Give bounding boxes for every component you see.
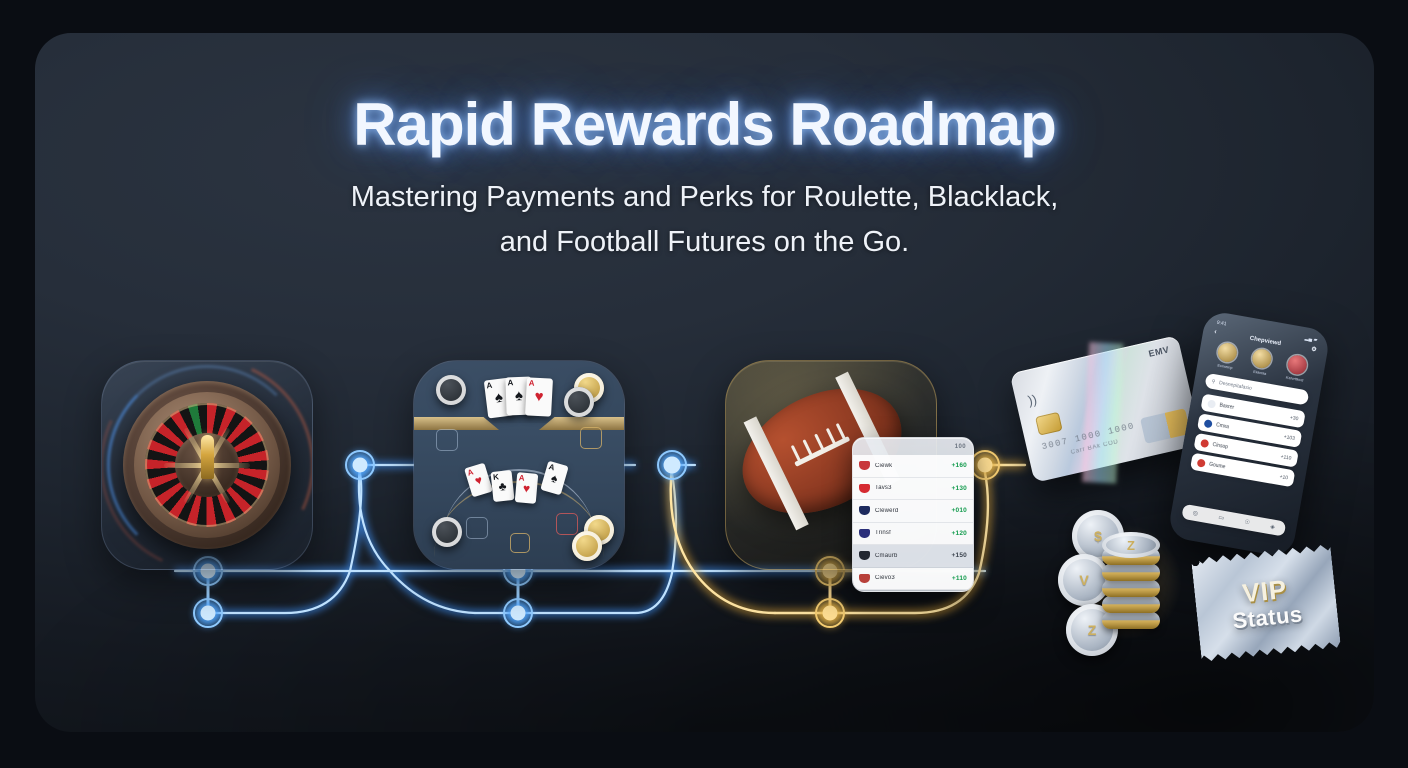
list-item-label: Baxrer — [1219, 402, 1287, 420]
odds-panel-header: 100 — [853, 438, 973, 455]
odds-row[interactable]: Clewerd +010 — [853, 500, 973, 523]
card-blackjack[interactable]: A ♠ A ♠ A ♥ A ♥ — [413, 360, 625, 570]
odds-value: +130 — [952, 485, 967, 492]
team-logo-icon — [859, 506, 870, 515]
holographic-stripe — [1082, 342, 1123, 484]
card-brand-label: EMV — [1148, 344, 1171, 358]
odds-team-label: Trinsf — [875, 530, 947, 536]
casino-chips-group: $ V Z Z — [1058, 508, 1188, 658]
odds-row[interactable]: Cievo3 +110 — [853, 568, 973, 591]
poker-chip — [432, 517, 462, 547]
content-panel: Rapid Rewards Roadmap Mastering Payments… — [35, 33, 1374, 732]
bet-slot[interactable] — [580, 427, 602, 449]
contactless-icon: )) — [1026, 392, 1038, 409]
playing-card: A ♥ — [515, 472, 539, 504]
phone-mockup[interactable]: 9:41 ▂▄ ▰ ‹ Chepviewd ⚙ Evrwsnp — [1167, 310, 1331, 558]
list-item-value: +103 — [1283, 434, 1295, 442]
odds-row[interactable]: Cmaurb +150 — [853, 545, 973, 568]
odds-value: +110 — [952, 575, 967, 582]
odds-team-label: Cievo3 — [875, 575, 947, 581]
header-block: Rapid Rewards Roadmap Mastering Payments… — [35, 33, 1374, 265]
odds-row[interactable]: Trinsf +120 — [853, 523, 973, 546]
tab-bets-icon[interactable]: ▭ — [1218, 514, 1225, 522]
odds-value: +010 — [952, 507, 967, 514]
avatar-label: Keivrttkvd — [1285, 374, 1305, 382]
card-roulette[interactable] — [101, 360, 313, 570]
odds-team-label: Tavs3 — [875, 485, 947, 491]
subtitle-line-2: and Football Futures on the Go. — [35, 220, 1374, 265]
bet-slot[interactable] — [436, 429, 458, 451]
odds-row[interactable]: Tavs3 +130 — [853, 478, 973, 501]
team-logo-icon — [859, 574, 870, 583]
credit-card[interactable]: EMV )) 3007 1000 1000 1000 Carr BAk COD — [1010, 335, 1203, 483]
avatar[interactable]: Evrwsnp — [1215, 342, 1238, 371]
bet-slot[interactable] — [556, 513, 578, 535]
chip-denomination: Z — [1127, 538, 1135, 553]
page-subtitle: Mastering Payments and Perks for Roulett… — [35, 175, 1374, 265]
chip-stack-top: Z — [1102, 532, 1160, 558]
poker-chip — [572, 531, 602, 561]
team-logo-icon — [1207, 399, 1216, 408]
avatar[interactable]: Keivrttkvd — [1285, 354, 1308, 383]
odds-value: +150 — [952, 552, 967, 559]
tab-home-icon[interactable]: ◎ — [1192, 509, 1198, 517]
bet-slot[interactable] — [466, 517, 488, 539]
chip-denomination: V — [1079, 572, 1088, 588]
team-logo-icon — [1204, 419, 1213, 428]
odds-value: +120 — [952, 530, 967, 537]
team-logo-icon — [859, 551, 870, 560]
bottom-tab-bar[interactable]: ◎ ▭ ☉ ◈ — [1181, 504, 1286, 537]
odds-panel[interactable]: 100 Ciewk +160 Tavs3 +130 Clewerd +010 T… — [852, 437, 974, 592]
odds-team-label: Clewerd — [875, 508, 947, 514]
odds-team-label: Cmaurb — [875, 553, 947, 559]
bet-slot[interactable] — [510, 533, 530, 553]
chevron-left-icon[interactable]: ‹ — [1214, 328, 1218, 335]
roulette-wheel-icon — [123, 381, 291, 549]
tab-live-icon[interactable]: ☉ — [1244, 519, 1251, 527]
playing-card: A ♥ — [525, 377, 553, 416]
rewards-cluster: EMV )) 3007 1000 1000 1000 Carr BAk COD … — [1000, 313, 1360, 703]
page-title: Rapid Rewards Roadmap — [35, 90, 1374, 159]
team-logo-icon — [859, 461, 870, 470]
search-icon: ⚲ — [1211, 378, 1216, 385]
subtitle-line-1: Mastering Payments and Perks for Roulett… — [35, 175, 1374, 220]
gear-icon[interactable]: ⚙ — [1311, 346, 1318, 354]
odds-row[interactable]: Ciewk +160 — [853, 455, 973, 478]
avatar-label: Evrwsnp — [1215, 362, 1235, 370]
list-item-value: +30 — [1290, 414, 1299, 421]
screenshot-root: Rapid Rewards Roadmap Mastering Payments… — [0, 0, 1408, 768]
roulette-illustration — [102, 361, 312, 569]
list-item-label: Cmxa — [1216, 422, 1281, 439]
list-item-label: Goume — [1209, 461, 1277, 479]
team-logo-icon — [1200, 438, 1209, 447]
team-logo-icon — [859, 529, 870, 538]
list-item-value: +110 — [1280, 453, 1292, 461]
avatar[interactable]: Ekkmia — [1250, 348, 1273, 377]
search-placeholder: Desnepitafasio — [1219, 380, 1253, 392]
odds-team-label: Ciewk — [875, 463, 947, 469]
emv-chip-icon — [1035, 412, 1063, 436]
app-title: Chepviewd — [1249, 335, 1281, 346]
blackjack-illustration: A ♠ A ♠ A ♥ A ♥ — [414, 361, 624, 569]
tab-profile-icon[interactable]: ◈ — [1270, 523, 1276, 531]
chip-denomination: $ — [1094, 528, 1102, 544]
odds-header-value: 100 — [955, 444, 966, 450]
team-logo-icon — [859, 484, 870, 493]
vip-badge-line-2: Status — [1231, 601, 1304, 634]
poker-chip — [564, 387, 594, 417]
poker-chip — [436, 375, 466, 405]
list-item-label: Cinsop — [1212, 441, 1277, 458]
team-logo-icon — [1197, 458, 1206, 467]
odds-value: +160 — [952, 462, 967, 469]
vip-status-badge[interactable]: VIP Status — [1191, 544, 1341, 662]
list-item-value: +10 — [1279, 474, 1288, 481]
phone-screen[interactable]: 9:41 ▂▄ ▰ ‹ Chepviewd ⚙ Evrwsnp — [1172, 314, 1327, 553]
casino-chip-stack: Z — [1102, 536, 1160, 632]
avatar-label: Ekkmia — [1250, 368, 1270, 376]
chip-denomination: Z — [1088, 622, 1097, 638]
playing-card: K ♣ — [490, 470, 514, 502]
